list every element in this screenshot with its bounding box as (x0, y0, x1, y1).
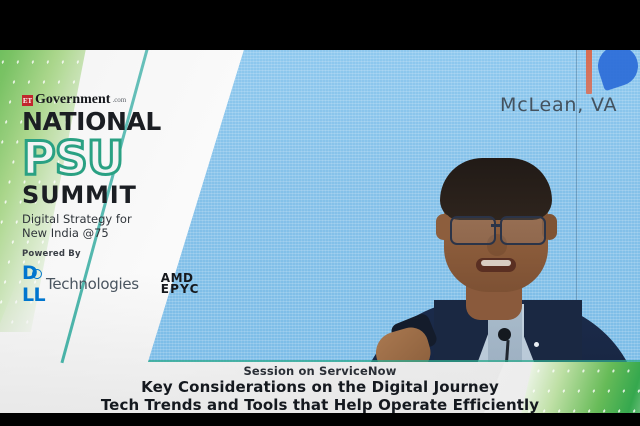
sponsor-logos: D LL Technologies AMD EPYC (22, 262, 182, 306)
speaker-lapel-right (524, 300, 582, 362)
speaker-figure (348, 142, 640, 362)
speaker-eyeglass-right (500, 216, 546, 245)
powered-by-label: Powered By (22, 249, 182, 259)
dell-e-ring-icon (31, 268, 44, 281)
video-player-frame: McLean, VA (0, 0, 640, 426)
event-tagline-line-2: New India @75 (22, 226, 182, 240)
sponsor-amd-logo: AMD EPYC (161, 273, 200, 295)
letterbox-bar-bottom (0, 413, 640, 426)
publisher-name: Government (35, 94, 110, 106)
publisher-logo: ET Government .com (22, 94, 182, 106)
sponsor-amd-epyc-word: EPYC (161, 284, 200, 295)
speaker-hair (440, 158, 552, 220)
event-branding-block: ET Government .com NATIONAL PSU PSU SUMM… (22, 94, 182, 306)
publisher-tld: .com (112, 96, 126, 105)
event-tagline: Digital Strategy for New India @75 (22, 212, 182, 240)
slide-logo-bar-shape (586, 50, 592, 94)
sponsor-dell-logo: D LL Technologies (22, 262, 139, 306)
caption-session-label: Session on ServiceNow (243, 364, 396, 378)
speaker-teeth (481, 260, 511, 266)
sponsor-dell-wordmark: D LL (22, 262, 45, 306)
caption-title-line-2: Tech Trends and Tools that Help Operate … (101, 396, 539, 413)
lapel-microphone-icon (498, 328, 511, 341)
letterbox-bar-top (0, 0, 640, 50)
session-caption-block: Session on ServiceNow Key Considerations… (0, 362, 640, 413)
et-mark-icon: ET (22, 95, 33, 106)
event-title-psu-outline: PSU (22, 135, 123, 182)
speaker-ear-left (436, 214, 451, 240)
caption-title-line-1: Key Considerations on the Digital Journe… (141, 378, 499, 396)
event-title-psu-logo: PSU PSU (22, 135, 182, 183)
slide-logo-blue-shape (593, 50, 640, 91)
sponsor-dell-technologies-word: Technologies (46, 275, 139, 293)
event-title-summit: SUMMIT (22, 182, 182, 208)
slide-location-label: McLean, VA (500, 94, 617, 116)
broadcast-card: McLean, VA (0, 50, 640, 413)
speaker-shirt-button (534, 342, 539, 347)
event-tagline-line-1: Digital Strategy for (22, 212, 182, 226)
speaker-eyeglass-bridge (491, 224, 502, 227)
speaker-eyeglass-left (450, 216, 496, 245)
